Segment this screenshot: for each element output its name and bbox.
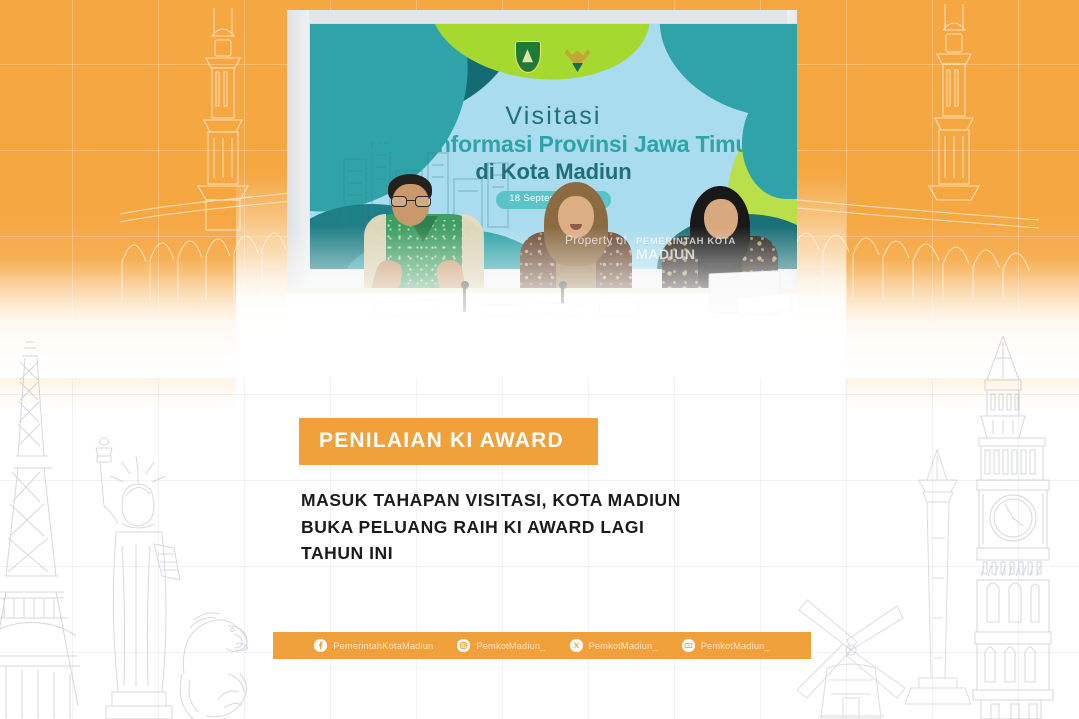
banner-logo-row: [310, 41, 797, 73]
social-item-x-twitter[interactable]: PemkotMadiun_: [570, 639, 658, 652]
facebook-icon[interactable]: [314, 639, 327, 652]
social-item-instagram[interactable]: PemkotMadiun_: [457, 639, 545, 652]
eyeglasses-icon: [391, 196, 431, 207]
youtube-icon[interactable]: [682, 639, 695, 652]
headline-line-3: TAHUN INI: [301, 540, 771, 567]
garuda-pancasila-emblem: [563, 47, 593, 73]
category-badge-label: PENILAIAN KI AWARD: [319, 429, 578, 453]
banner-line-2: Komisi Informasi Provinsi Jawa Timur: [310, 131, 797, 157]
merlion-sketch: [170, 604, 266, 719]
headline-line-2: BUKA PELUANG RAIH KI AWARD LAGI: [301, 514, 771, 541]
social-handle-facebook: PemerintahKotaMadiun: [333, 641, 433, 651]
poster-canvas: Visitasi Komisi Informasi Provinsi Jawa …: [0, 0, 1079, 719]
social-media-bar: PemerintahKotaMadiun PemkotMadiun_ P: [273, 632, 811, 659]
monas-monument-sketch: [905, 448, 971, 719]
madiun-city-emblem: [515, 41, 541, 73]
headline-line-1: MASUK TAHAPAN VISITASI, KOTA MADIUN: [301, 487, 771, 514]
x-twitter-icon[interactable]: [570, 639, 583, 652]
instagram-icon[interactable]: [457, 639, 470, 652]
social-handle-youtube: PemkotMadiun_: [701, 641, 770, 651]
social-handle-instagram: PemkotMadiun_: [476, 641, 545, 651]
social-handle-x-twitter: PemkotMadiun_: [589, 641, 658, 651]
social-item-facebook[interactable]: PemerintahKotaMadiun: [314, 639, 433, 652]
news-photo[interactable]: Visitasi Komisi Informasi Provinsi Jawa …: [287, 10, 797, 346]
big-ben-sketch: [957, 336, 1067, 719]
category-badge: PENILAIAN KI AWARD: [299, 418, 598, 465]
page-title: MASUK TAHAPAN VISITASI, KOTA MADIUN BUKA…: [301, 487, 771, 567]
social-item-youtube[interactable]: PemkotMadiun_: [682, 639, 770, 652]
photo-bottom-fade: [287, 226, 797, 346]
banner-line-1: Visitasi: [310, 102, 797, 131]
